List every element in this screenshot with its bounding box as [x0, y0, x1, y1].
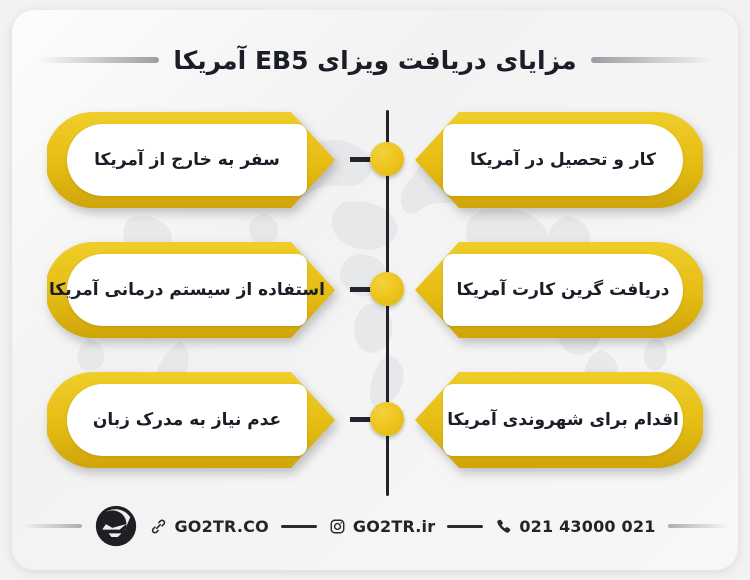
benefit-pill-left-2: استفاده از سیستم درمانی آمریکا: [67, 254, 307, 326]
title-rule-right: [591, 57, 709, 63]
contact-instagram-text: GO2TR.ir: [353, 517, 435, 536]
phone-icon: [495, 518, 512, 535]
contact-website-text: GO2TR.CO: [174, 517, 268, 536]
benefit-card-left-3[interactable]: عدم نیاز به مدرک زبان: [47, 370, 337, 470]
footer-separator-2: [447, 525, 483, 528]
footer-separator-1: [281, 525, 317, 528]
link-icon: [150, 518, 167, 535]
contact-phone[interactable]: 021 43000 021: [495, 517, 655, 536]
benefit-label-left-1: سفر به خارج از آمریکا: [86, 150, 288, 170]
benefit-card-right-2[interactable]: دریافت گرین کارت آمریکا: [413, 240, 703, 340]
footer-rule-left: [24, 524, 82, 528]
benefit-pill-right-2: دریافت گرین کارت آمریکا: [443, 254, 683, 326]
go2tr-logo: [94, 504, 138, 548]
benefit-card-left-2[interactable]: استفاده از سیستم درمانی آمریکا: [47, 240, 337, 340]
contact-instagram[interactable]: GO2TR.ir: [329, 517, 435, 536]
footer-bar: GO2TR.CO GO2TR.ir: [12, 500, 738, 552]
contact-phone-text: 021 43000 021: [519, 517, 655, 536]
benefit-label-left-2: استفاده از سیستم درمانی آمریکا: [41, 280, 333, 300]
page-title: مزایای دریافت ویزای EB5 آمریکا: [173, 46, 576, 75]
benefit-pill-right-1: کار و تحصیل در آمریکا: [443, 124, 683, 196]
benefit-card-right-1[interactable]: کار و تحصیل در آمریکا: [413, 110, 703, 210]
title-rule-left: [41, 57, 159, 63]
contact-website[interactable]: GO2TR.CO: [150, 517, 268, 536]
benefit-card-left-1[interactable]: سفر به خارج از آمریکا: [47, 110, 337, 210]
timeline-node-3[interactable]: [370, 402, 404, 436]
benefit-pill-right-3: اقدام برای شهروندی آمریکا: [443, 384, 683, 456]
title-band: مزایای دریافت ویزای EB5 آمریکا: [12, 36, 738, 84]
benefit-pill-left-1: سفر به خارج از آمریکا: [67, 124, 307, 196]
timeline-node-2[interactable]: [370, 272, 404, 306]
benefit-label-right-2: دریافت گرین کارت آمریکا: [448, 280, 677, 300]
benefit-label-left-3: عدم نیاز به مدرک زبان: [85, 410, 289, 430]
instagram-icon: [329, 518, 346, 535]
footer-rule-right: [668, 524, 726, 528]
benefit-label-right-1: کار و تحصیل در آمریکا: [462, 150, 664, 170]
benefit-pill-left-3: عدم نیاز به مدرک زبان: [67, 384, 307, 456]
infographic-root: مزایای دریافت ویزای EB5 آمریکا: [0, 0, 750, 580]
timeline-node-1[interactable]: [370, 142, 404, 176]
benefit-card-right-3[interactable]: اقدام برای شهروندی آمریکا: [413, 370, 703, 470]
benefit-label-right-3: اقدام برای شهروندی آمریکا: [439, 410, 687, 430]
content-card: مزایای دریافت ویزای EB5 آمریکا: [12, 10, 738, 570]
